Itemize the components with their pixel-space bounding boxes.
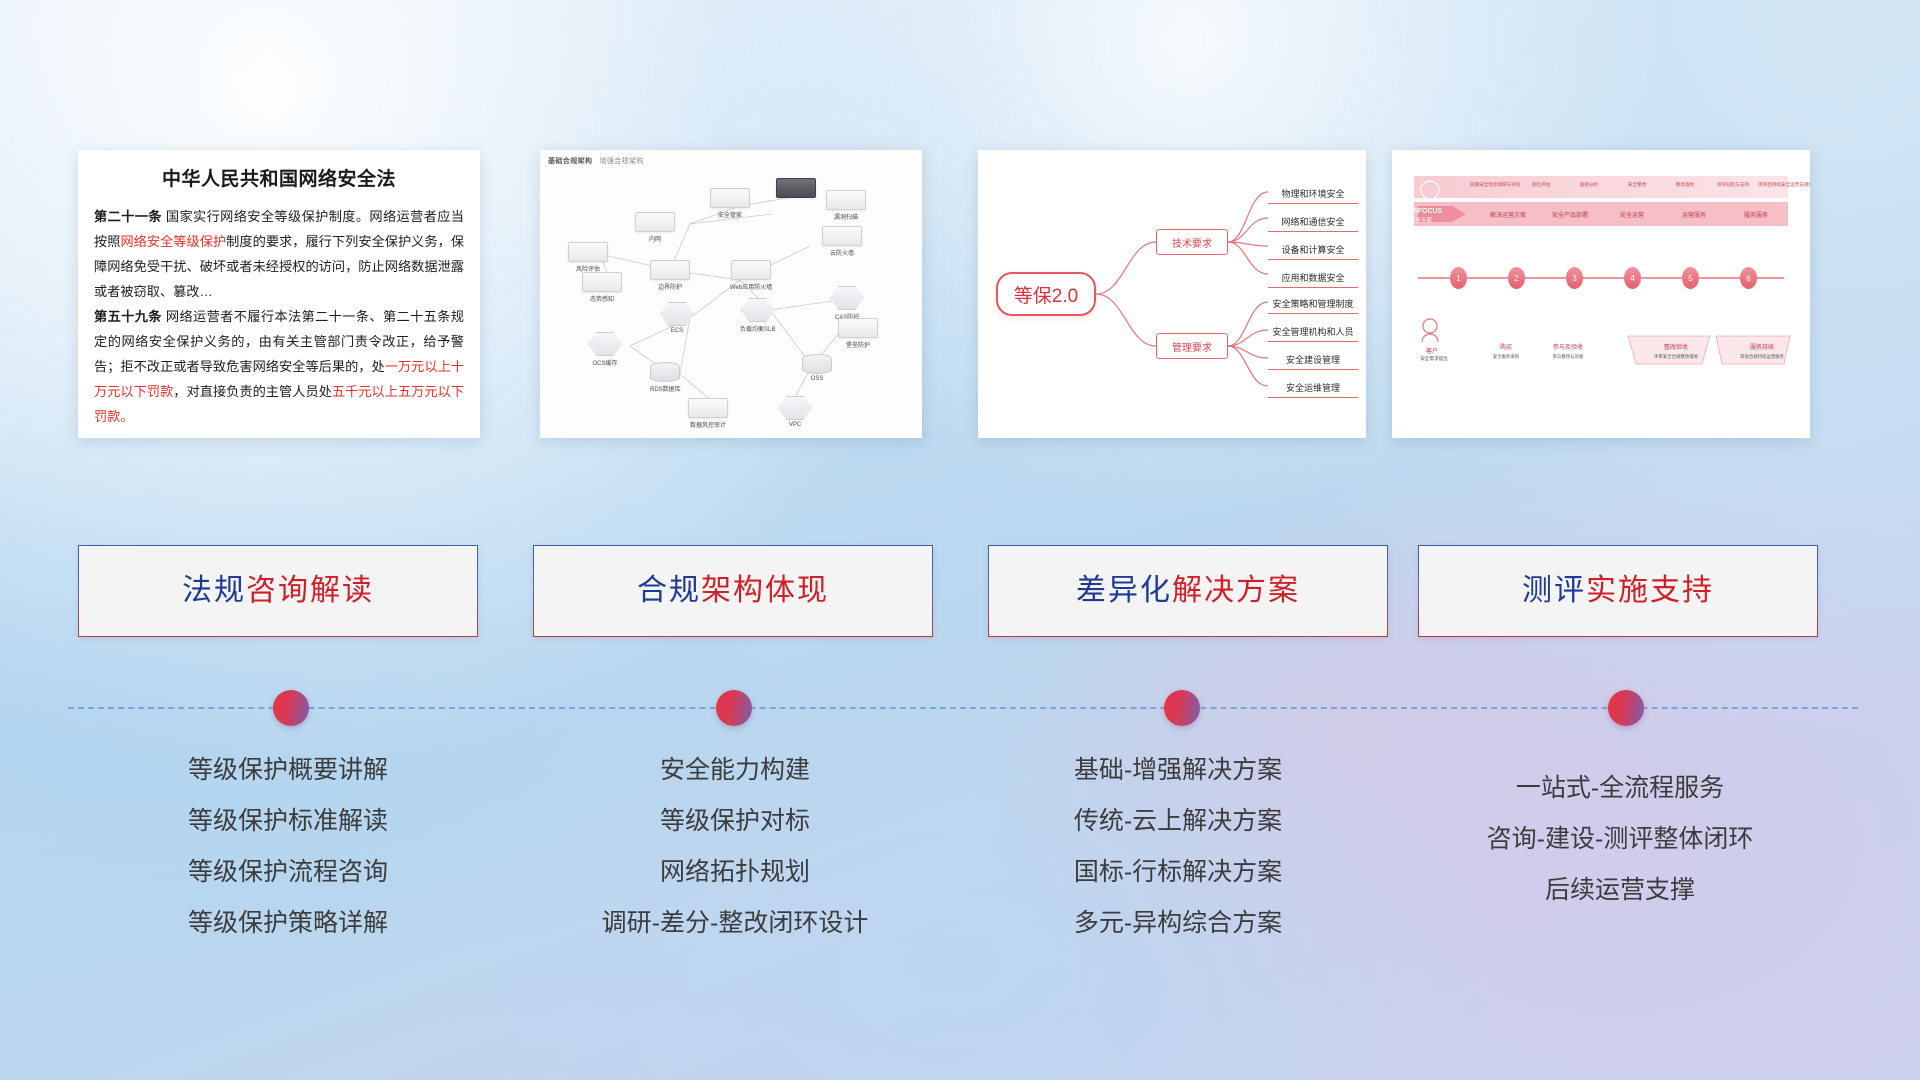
list-item: 多元-异构综合方案 <box>968 898 1388 949</box>
architecture-node-shape <box>741 298 775 322</box>
list-item: 等级保护标准解读 <box>78 796 498 847</box>
roadmap-top-label: 前期安全现状调研与评估 <box>1470 182 1516 188</box>
mindmap-branch-title: 技术要求 <box>1156 229 1228 255</box>
timeline-dot-4[interactable] <box>1608 690 1644 726</box>
architecture-node-shape <box>710 188 750 208</box>
list-item: 国标-行标解决方案 <box>968 847 1388 898</box>
roadmap-top-label: 差距分析 <box>1566 182 1612 188</box>
architecture-node-label: OSS <box>802 376 832 382</box>
architecture-node-label: 堡垒防护 <box>838 340 878 349</box>
architecture-node: 漏洞扫描 <box>826 190 866 221</box>
architecture-node: RDS数据库 <box>650 362 681 393</box>
architecture-node-label: OCS缓存 <box>588 358 622 367</box>
list-item: 等级保护对标 <box>525 796 945 847</box>
section-title-row: 法规咨询解读 合规架构体现 差异化解决方案 测评实施支持 <box>0 545 1920 640</box>
architecture-node-label: 边界防护 <box>650 282 690 291</box>
architecture-node: OCS缓存 <box>588 332 622 367</box>
roadmap-top-label: 安全整改 <box>1614 182 1660 188</box>
roadmap-top-label: 测评迎检与支持 <box>1710 182 1756 188</box>
title-4-blue: 测评 <box>1522 576 1586 606</box>
list-item: 咨询-建设-测评整体闭环 <box>1400 814 1840 865</box>
list-item: 等级保护策略详解 <box>78 898 498 949</box>
list-item: 安全能力构建 <box>525 745 945 796</box>
list-item: 调研-差分-整改闭环设计 <box>525 898 945 949</box>
architecture-node-label: 堡垒机 <box>776 200 816 209</box>
roadmap-diagram: NSFOCUS 安全专家 前期安全现状调研与评估风险评估差距分析安全整改整改落地… <box>1392 150 1810 438</box>
roadmap-step-number: 6 <box>1740 267 1757 289</box>
architecture-node-label: VPC <box>778 422 812 428</box>
roadmap-band-label: 运营服务 <box>1664 210 1724 219</box>
architecture-node-label: Web应用防火墙 <box>730 282 772 291</box>
timeline-dot-1[interactable] <box>273 690 309 726</box>
detail-column-3: 基础-增强解决方案 传统-云上解决方案 国标-行标解决方案 多元-异构综合方案 <box>968 745 1388 949</box>
architecture-node-shape <box>838 318 878 338</box>
architecture-node: 数据风控审计 <box>688 398 728 429</box>
roadmap-brand-sub: 安全专家 <box>1410 216 1432 224</box>
list-item: 传统-云上解决方案 <box>968 796 1388 847</box>
list-item: 等级保护概要讲解 <box>78 745 498 796</box>
title-box-compliance-architecture[interactable]: 合规架构体现 <box>533 545 933 637</box>
title-box-assessment-support[interactable]: 测评实施支持 <box>1418 545 1818 637</box>
architecture-diagram: 基础合规架构 增强合规架构 <box>540 150 922 438</box>
architecture-node: OSS <box>802 354 832 382</box>
architecture-node-shape <box>826 190 866 210</box>
architecture-node: CAS防护 <box>830 286 864 321</box>
mindmap-diagram: 等保2.0 技术要求物理和环境安全网络和通信安全设备和计算安全应用和数据安全管理… <box>978 150 1366 438</box>
article-59-text-b: ，对直接负责的主管人员处 <box>173 384 332 399</box>
architecture-node: 态势感知 <box>582 272 622 303</box>
roadmap-bottom-sublabel: 参与整改与验收 <box>1536 354 1600 360</box>
architecture-node-label: ECS <box>660 328 694 334</box>
roadmap-top-label: 测评后持续安全运营支撑服务 <box>1758 182 1804 188</box>
title-3-blue: 差异化 <box>1076 576 1172 606</box>
law-title: 中华人民共和国网络安全法 <box>94 164 464 191</box>
architecture-node: VPC <box>778 396 812 428</box>
roadmap-step-number: 3 <box>1566 267 1583 289</box>
architecture-node: 安全管家 <box>710 188 750 219</box>
architecture-node: ECS <box>660 302 694 334</box>
mindmap-leaf: 应用和数据安全 <box>1268 268 1358 288</box>
roadmap-band-label: 安全运营 <box>1602 210 1662 219</box>
slide-stage: 中华人民共和国网络安全法 第二十一条 国家实行网络安全等级保护制度。网络运营者应… <box>0 0 1920 1080</box>
architecture-node-shape <box>688 398 728 418</box>
title-2-red: 架构体现 <box>701 576 829 606</box>
roadmap-shapes <box>1392 150 1810 438</box>
list-item: 网络拓扑规划 <box>525 847 945 898</box>
architecture-node-label: 态势感知 <box>582 294 622 303</box>
roadmap-step-number: 4 <box>1624 267 1641 289</box>
title-2-blue: 合规 <box>637 576 701 606</box>
law-article-21: 第二十一条 国家实行网络安全等级保护制度。网络运营者应当按照网络安全等级保护制度… <box>94 204 464 304</box>
architecture-node-label: RDS数据库 <box>650 384 681 393</box>
architecture-node-shape <box>731 260 771 280</box>
law-article-59: 第五十九条 网络运营者不履行本法第二十一条、第二十五条规定的网络安全保护义务的，… <box>94 304 464 429</box>
roadmap-role-sublabel: 安全需求提出 <box>1408 356 1460 362</box>
card-cloud-architecture[interactable]: 基础合规架构 增强合规架构 <box>540 150 922 438</box>
article-59-label: 第五十九条 <box>94 309 162 324</box>
card-nsfocus-roadmap[interactable]: NSFOCUS 安全专家 前期安全现状调研与评估风险评估差距分析安全整改整改落地… <box>1392 150 1810 438</box>
architecture-node-shape <box>660 302 694 326</box>
architecture-node-shape <box>582 272 622 292</box>
roadmap-bottom-title: 整改验收 <box>1650 342 1702 351</box>
mindmap-leaf: 安全策略和管理制度 <box>1268 294 1358 314</box>
mindmap-leaf: 物理和环境安全 <box>1268 184 1358 204</box>
card-cybersecurity-law[interactable]: 中华人民共和国网络安全法 第二十一条 国家实行网络安全等级保护制度。网络运营者应… <box>78 150 480 438</box>
reference-image-row: 中华人民共和国网络安全法 第二十一条 国家实行网络安全等级保护制度。网络运营者应… <box>0 150 1920 440</box>
architecture-node-shape <box>822 226 862 246</box>
title-box-regulation-consulting[interactable]: 法规咨询解读 <box>78 545 478 637</box>
mindmap-leaf: 设备和计算安全 <box>1268 240 1358 260</box>
list-item: 一站式-全流程服务 <box>1400 763 1840 814</box>
mindmap-leaf: 安全建设管理 <box>1268 350 1358 370</box>
architecture-node-shape <box>568 242 608 262</box>
architecture-node-label: 负载均衡SLB <box>740 324 775 333</box>
roadmap-band-label: 服务服务 <box>1726 210 1786 219</box>
timeline-dot-2[interactable] <box>716 690 752 726</box>
mindmap-branch-title: 管理要求 <box>1156 333 1228 359</box>
roadmap-bottom-title: 参与及验收 <box>1542 342 1594 351</box>
roadmap-top-label: 整改落地 <box>1662 182 1708 188</box>
article-21-label: 第二十一条 <box>94 209 162 224</box>
roadmap-bottom-title: 服务持续 <box>1736 342 1788 351</box>
roadmap-brand: NSFOCUS <box>1408 208 1442 215</box>
architecture-node: 边界防护 <box>650 260 690 291</box>
roadmap-band-label: 安全产品部署 <box>1540 210 1600 219</box>
roadmap-bottom-sublabel: 安全服务采购 <box>1474 354 1538 360</box>
list-item: 基础-增强解决方案 <box>968 745 1388 796</box>
roadmap-bottom-title: 购买 <box>1480 342 1532 351</box>
architecture-node-shape <box>650 362 680 382</box>
architecture-node-label: 内网 <box>635 234 675 243</box>
architecture-node: 云防火墙 <box>822 226 862 257</box>
architecture-node-label: 云防火墙 <box>822 248 862 257</box>
mindmap-leaf: 网络和通信安全 <box>1268 212 1358 232</box>
architecture-node-label: 安全管家 <box>710 210 750 219</box>
timeline-dashed-line <box>68 707 1858 709</box>
list-item: 等级保护流程咨询 <box>78 847 498 898</box>
architecture-node: 内网 <box>635 212 675 243</box>
roadmap-top-label: 风险评估 <box>1518 182 1564 188</box>
mindmap-leaf: 安全运维管理 <box>1268 378 1358 398</box>
roadmap-role-label: 客户 <box>1414 346 1450 355</box>
detail-column-2: 安全能力构建 等级保护对标 网络拓扑规划 调研-差分-整改闭环设计 <box>525 745 945 949</box>
title-1-red: 咨询解读 <box>246 576 374 606</box>
architecture-node-shape <box>650 260 690 280</box>
architecture-node-shape <box>776 178 816 198</box>
roadmap-bottom-sublabel: 评审安全合规整改落地 <box>1644 354 1708 360</box>
architecture-node: 风险评估 <box>568 242 608 273</box>
title-3-red: 解决方案 <box>1172 576 1300 606</box>
timeline-dot-3[interactable] <box>1164 690 1200 726</box>
roadmap-step-number: 5 <box>1682 267 1699 289</box>
detail-column-1: 等级保护概要讲解 等级保护标准解读 等级保护流程咨询 等级保护策略详解 <box>78 745 498 949</box>
roadmap-step-number: 2 <box>1508 267 1525 289</box>
title-1-blue: 法规 <box>182 576 246 606</box>
mindmap-root: 等保2.0 <box>996 272 1096 316</box>
architecture-node-shape <box>635 212 675 232</box>
title-4-red: 实施支持 <box>1586 576 1714 606</box>
law-document: 中华人民共和国网络安全法 第二十一条 国家实行网络安全等级保护制度。网络运营者应… <box>78 150 480 429</box>
architecture-node-shape <box>778 396 812 420</box>
architecture-node: 堡垒防护 <box>838 318 878 349</box>
roadmap-band-label: 解决运营方案 <box>1478 210 1538 219</box>
architecture-node-shape <box>830 286 864 310</box>
article-21-highlight: 网络安全等级保护 <box>120 234 226 249</box>
mindmap-leaf: 安全管理机构和人员 <box>1268 322 1358 342</box>
architecture-node-shape <box>802 354 832 374</box>
architecture-node-label: 漏洞扫描 <box>826 212 866 221</box>
detail-column-4: 一站式-全流程服务 咨询-建设-测评整体闭环 后续运营支撑 <box>1400 763 1840 916</box>
roadmap-step-number: 1 <box>1450 267 1467 289</box>
architecture-node: 负载均衡SLB <box>740 298 775 333</box>
card-djcp-mindmap[interactable]: 等保2.0 技术要求物理和环境安全网络和通信安全设备和计算安全应用和数据安全管理… <box>978 150 1366 438</box>
title-box-differentiated-solution[interactable]: 差异化解决方案 <box>988 545 1388 637</box>
architecture-node: Web应用防火墙 <box>730 260 772 291</box>
timeline <box>68 690 1858 726</box>
architecture-node-shape <box>588 332 622 356</box>
roadmap-bottom-sublabel: 等保合规持续运营服务 <box>1730 354 1794 360</box>
list-item: 后续运营支撑 <box>1400 865 1840 916</box>
architecture-node-label: 数据风控审计 <box>688 420 728 429</box>
architecture-node: 堡垒机 <box>776 178 816 209</box>
